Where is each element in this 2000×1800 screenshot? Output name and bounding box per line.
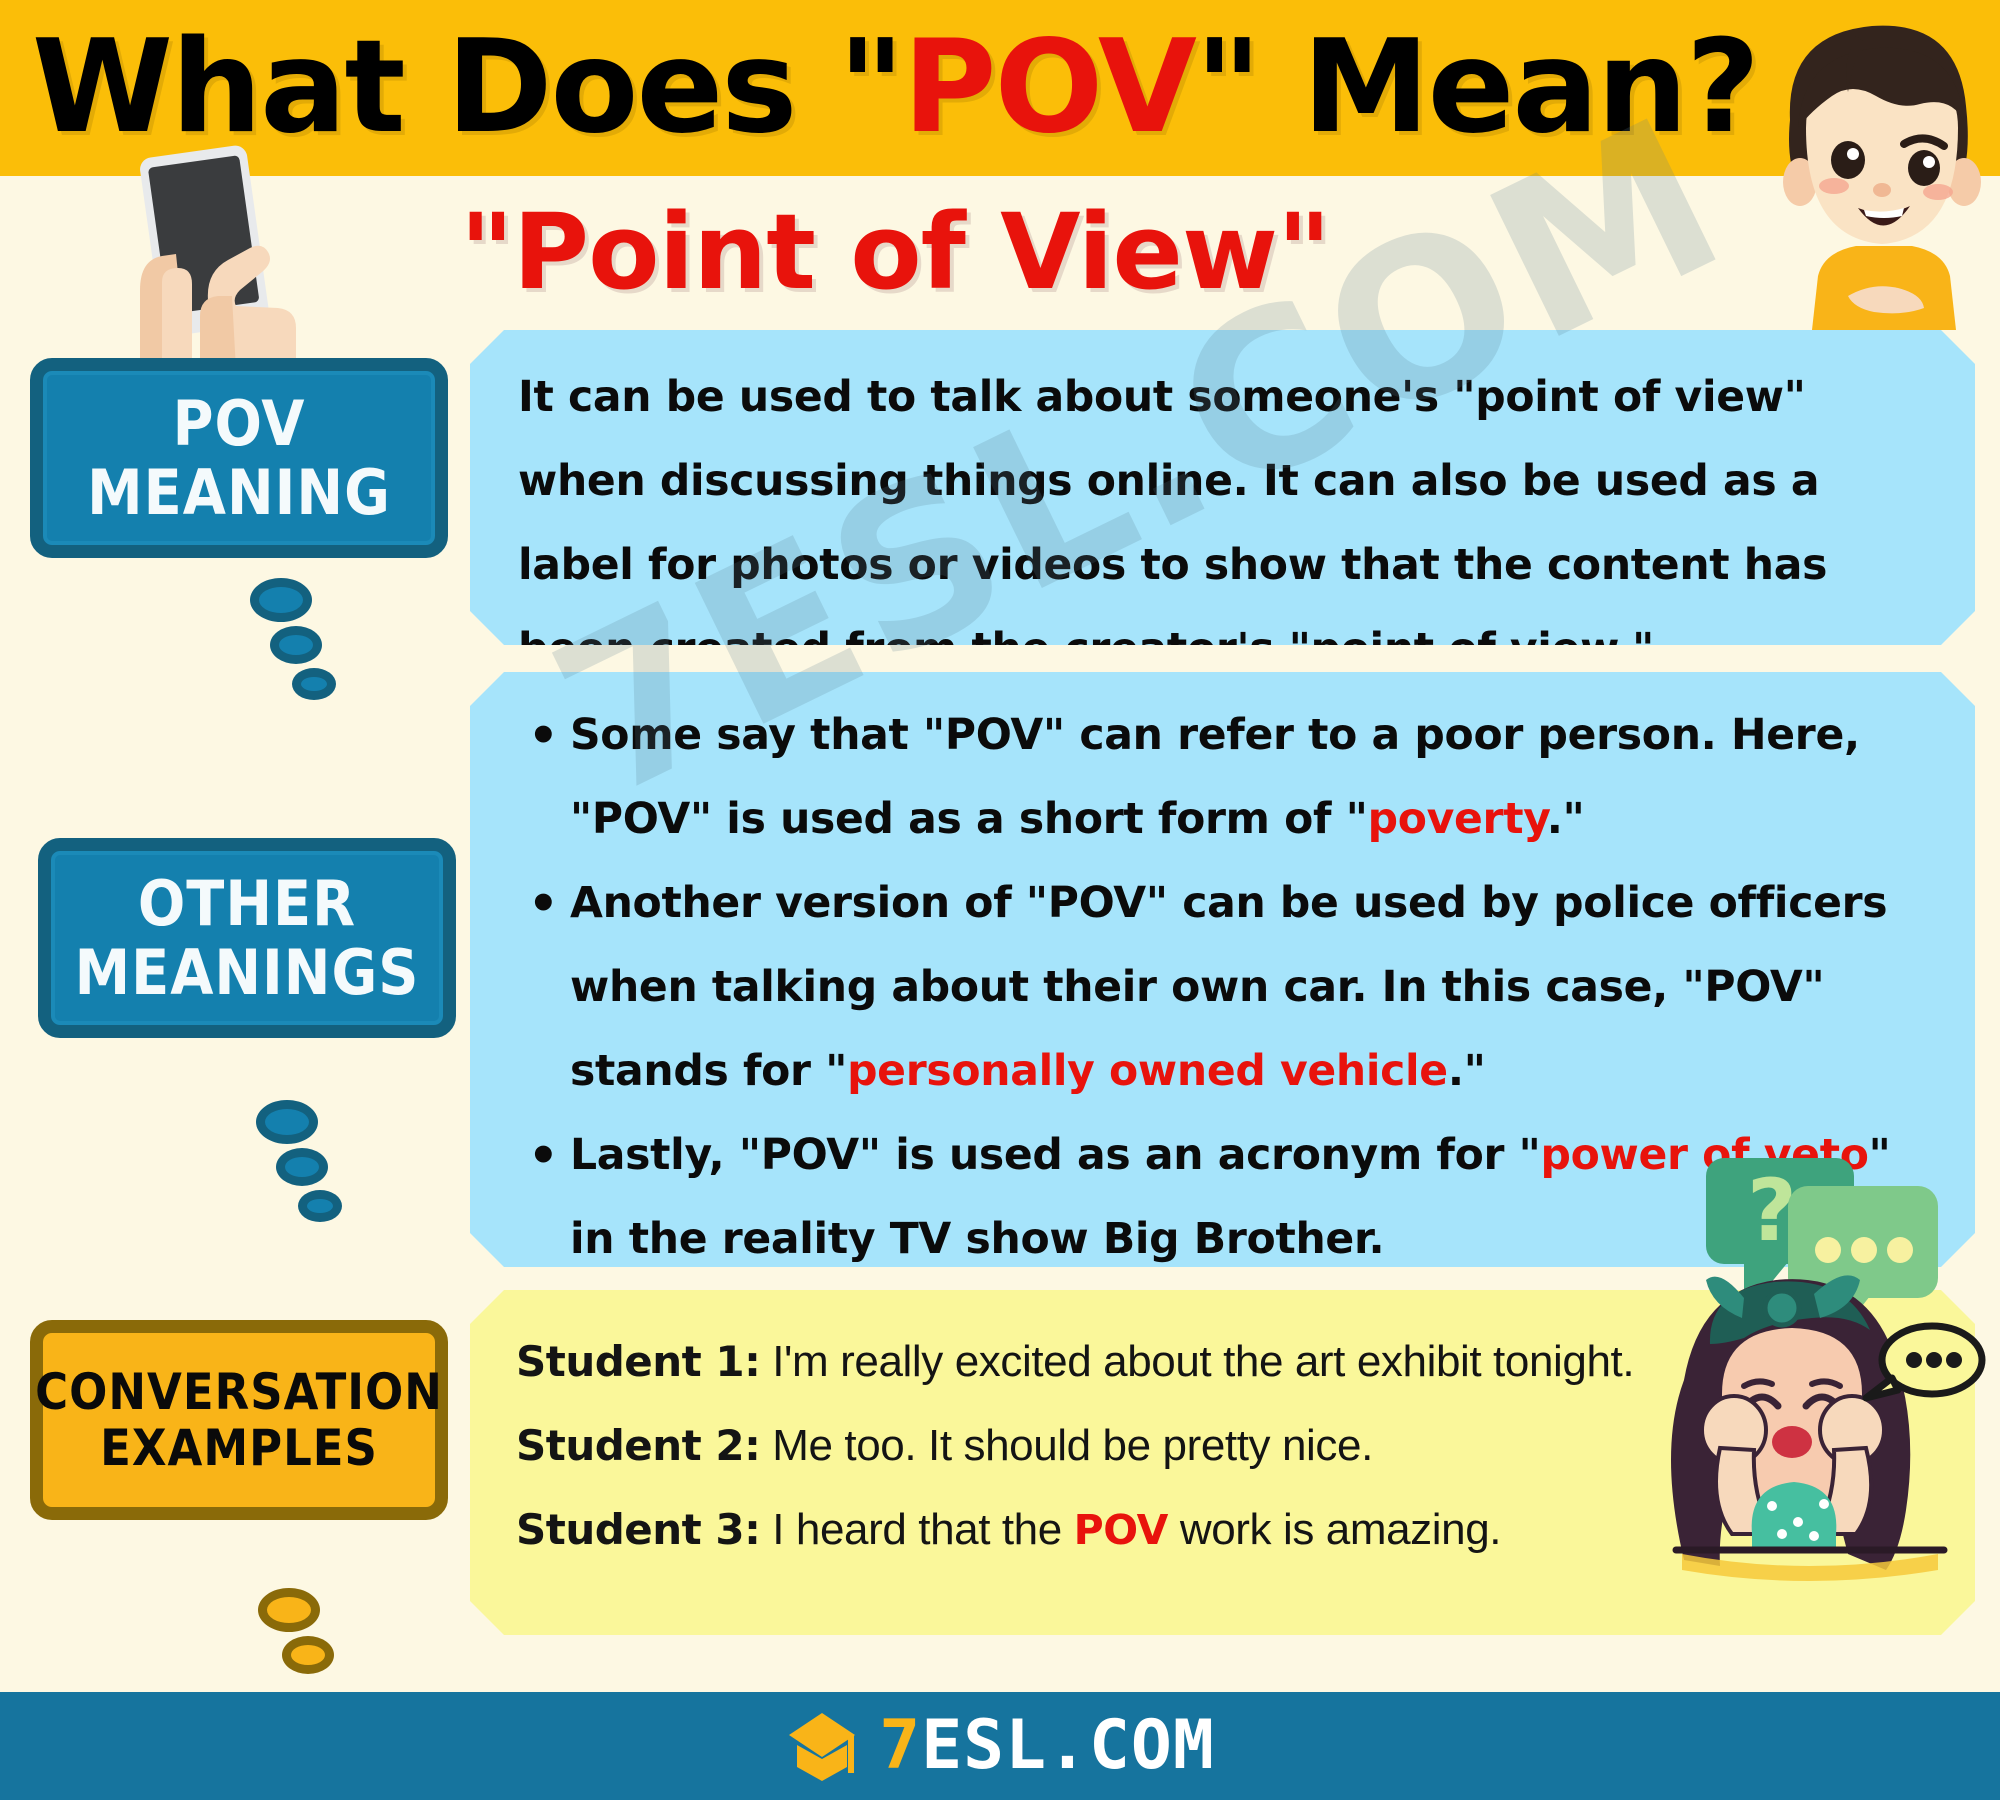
thought-dot-medium — [282, 1636, 334, 1674]
speaker-label: Student 1: — [516, 1337, 760, 1386]
bullet-text-tail: ." — [1448, 1047, 1486, 1096]
bullet-text: Lastly, "POV" is used as an acronym for … — [570, 1131, 1541, 1180]
pov-meaning-text: It can be used to talk about someone's "… — [470, 330, 1975, 692]
footer-bar: 7ESL.COM — [0, 1692, 2000, 1800]
utterance-text-tail: work is amazing. — [1168, 1505, 1501, 1554]
label-line-2: MEANINGS — [75, 938, 420, 1007]
title-part-highlight: POV — [903, 13, 1195, 162]
list-item: Some say that "POV" can refer to a poor … — [528, 694, 1935, 862]
sidebar-label-pov-meaning: POV MEANING — [30, 358, 448, 558]
bullet-text: Some say that "POV" can refer to a poor … — [570, 711, 1860, 844]
hand-holding-smartphone-icon — [100, 140, 350, 370]
thought-dot-small — [292, 668, 336, 700]
title-part-post: " Mean? — [1195, 13, 1758, 162]
label-line-2: MEANING — [87, 458, 391, 527]
sidebar-label-text: POV MEANING — [87, 389, 391, 528]
footer-brand[interactable]: 7ESL.COM — [879, 1712, 1215, 1780]
thought-dot-large — [250, 578, 312, 622]
brand-rest: ESL.COM — [921, 1706, 1215, 1785]
label-line-1: OTHER — [75, 869, 420, 938]
graduation-cap-icon — [785, 1709, 859, 1783]
label-line-1: CONVERSATION — [35, 1364, 443, 1420]
infographic-page: What Does "POV" Mean? "Point of View" — [0, 0, 2000, 1800]
sidebar-label-other-meanings: OTHER MEANINGS — [38, 838, 456, 1038]
thought-dot-medium — [270, 626, 322, 664]
bullet-highlight: personally owned vehicle — [847, 1047, 1448, 1096]
utterance-text: I'm really excited about the art exhibit… — [760, 1337, 1634, 1386]
sidebar-label-text: CONVERSATION EXAMPLES — [35, 1364, 443, 1476]
speaker-label: Student 3: — [516, 1505, 760, 1554]
pov-meaning-panel: It can be used to talk about someone's "… — [470, 330, 1975, 645]
bullet-highlight: poverty — [1368, 795, 1547, 844]
brand-seven: 7 — [879, 1706, 921, 1785]
thought-dot-small — [298, 1190, 342, 1222]
utterance-text: Me too. It should be pretty nice. — [760, 1421, 1373, 1470]
utterance-text: I heard that the — [760, 1505, 1073, 1554]
thought-dot-large — [258, 1588, 320, 1632]
thought-dot-medium — [276, 1148, 328, 1186]
thinking-girl-character: ? — [1648, 1130, 2000, 1630]
label-line-2: EXAMPLES — [35, 1420, 443, 1476]
bullet-text-tail: ." — [1547, 795, 1585, 844]
sidebar-label-conversation-examples: CONVERSATION EXAMPLES — [30, 1320, 448, 1520]
smiling-boy-character — [1752, 0, 2000, 330]
sidebar-label-text: OTHER MEANINGS — [75, 869, 420, 1008]
utterance-highlight: POV — [1074, 1506, 1168, 1554]
label-line-1: POV — [87, 389, 391, 458]
speaker-label: Student 2: — [516, 1421, 760, 1470]
list-item: Another version of "POV" can be used by … — [528, 862, 1935, 1114]
paragraph-text: It can be used to talk about someone's "… — [518, 373, 1827, 674]
thought-dot-large — [256, 1100, 318, 1144]
